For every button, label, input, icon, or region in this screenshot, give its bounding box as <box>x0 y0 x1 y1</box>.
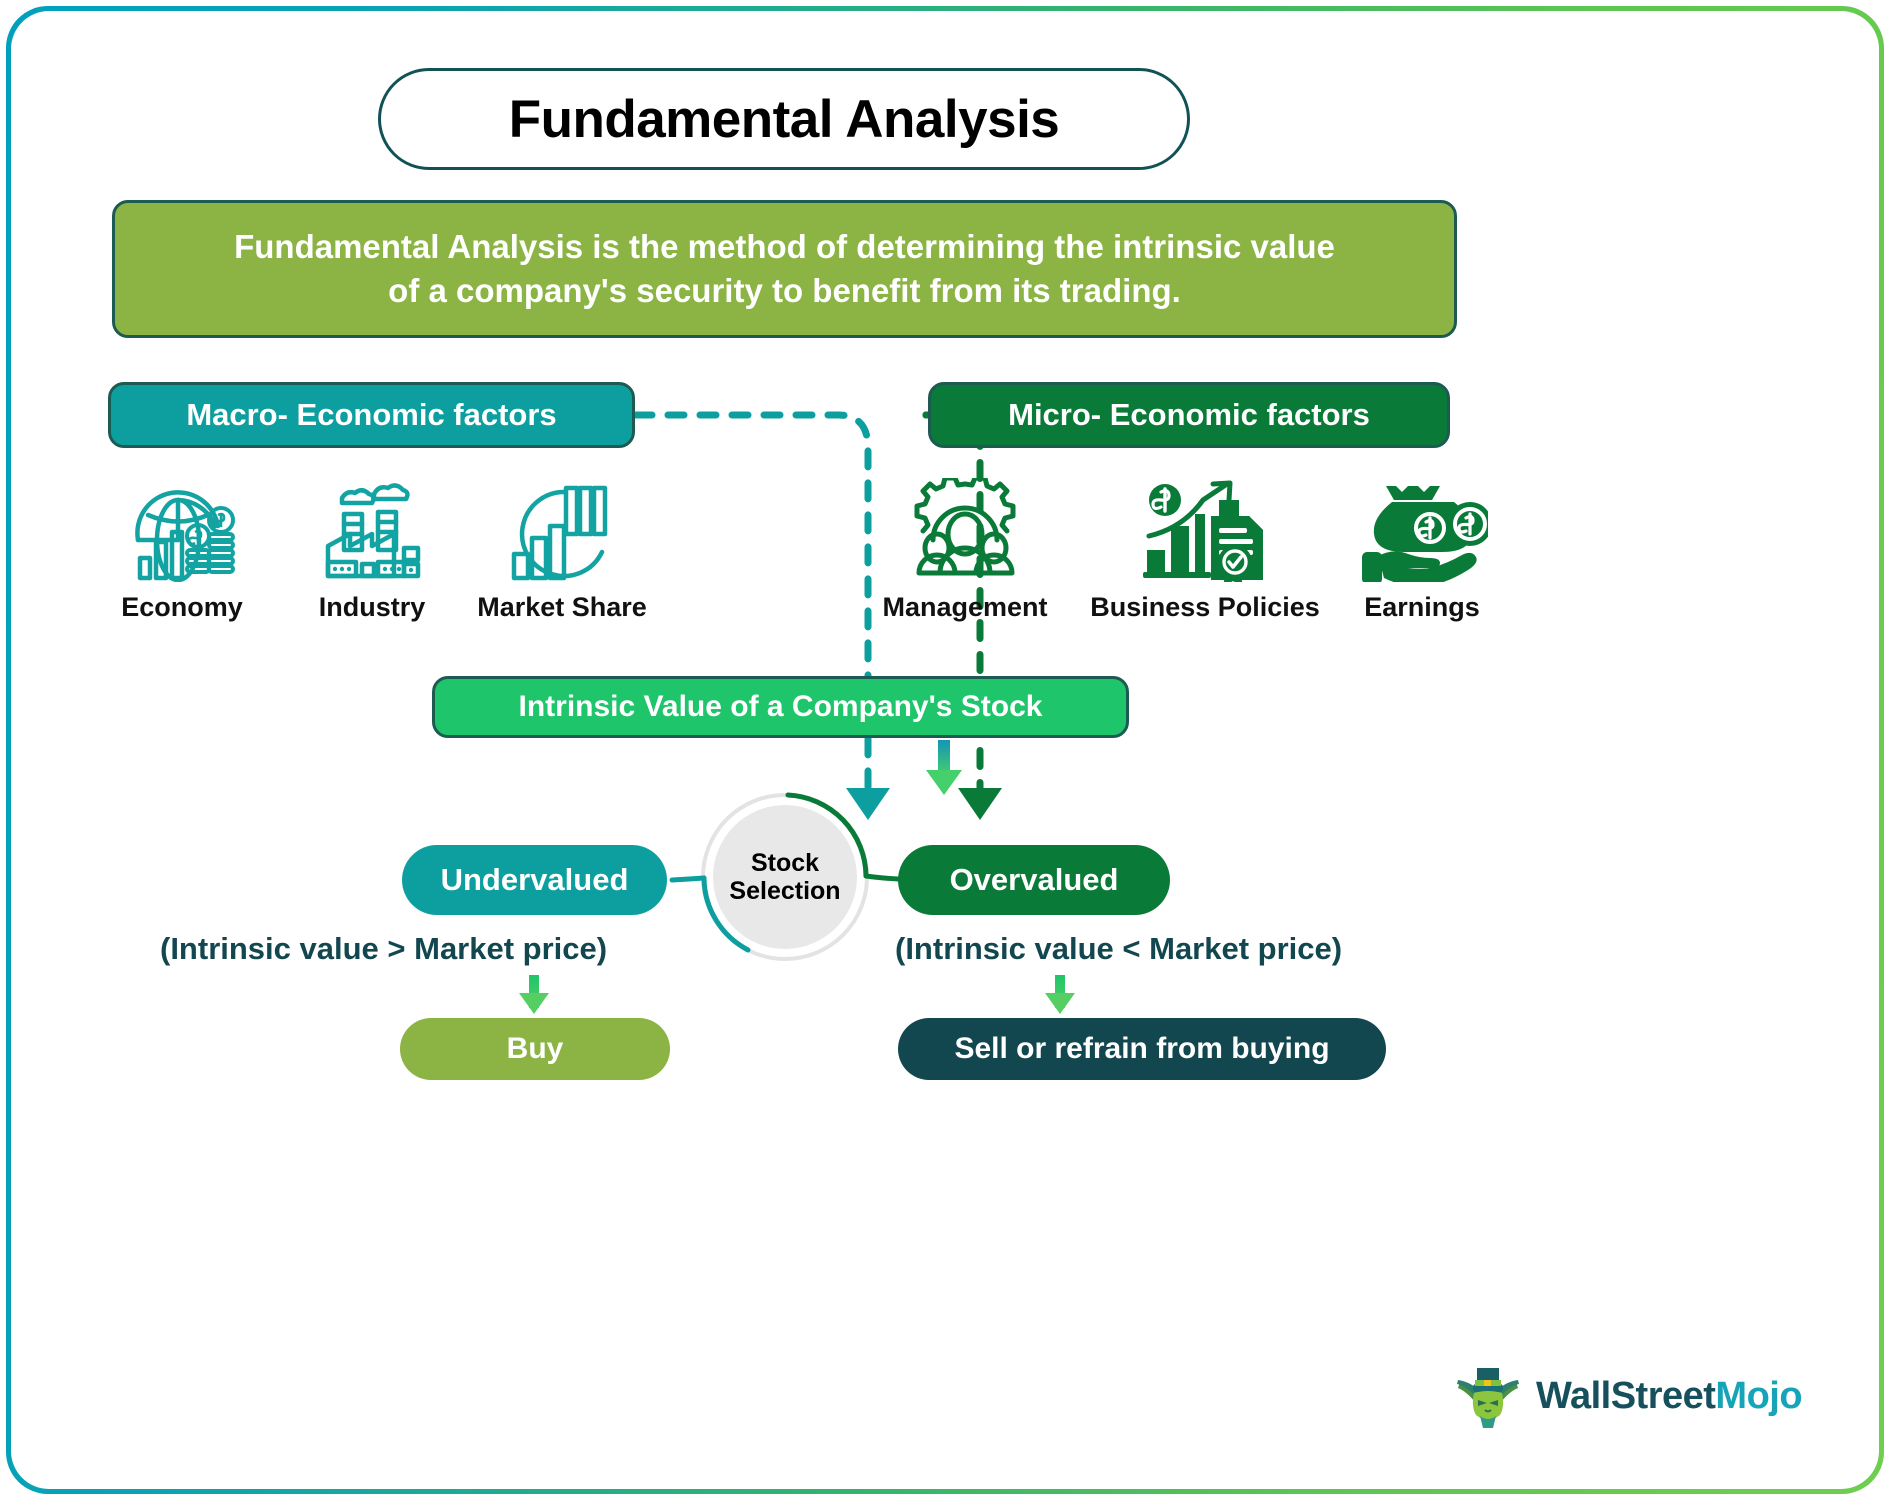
macro-item-economy[interactable]: Economy <box>92 470 272 623</box>
macro-economic-factors-label: Macro- Economic factors <box>186 397 556 433</box>
intrinsic-value-pill[interactable]: Intrinsic Value of a Company's Stock <box>432 676 1129 738</box>
macro-item-label: Market Share <box>477 592 647 623</box>
logo-wordmark: WallStreetMojo <box>1536 1375 1802 1418</box>
macro-item-market-share[interactable]: Market Share <box>472 470 652 623</box>
globe-bar-chart-coins-icon <box>126 470 238 582</box>
buy-action-label: Buy <box>507 1032 564 1066</box>
intrinsic-value-label: Intrinsic Value of a Company's Stock <box>519 690 1043 724</box>
micro-item-earnings[interactable]: Earnings <box>1332 470 1512 623</box>
growth-chart-document-icon <box>1141 470 1269 582</box>
description-banner: Fundamental Analysis is the method of de… <box>112 200 1457 338</box>
stock-selection-node[interactable]: Stock Selection <box>694 786 876 968</box>
micro-item-management[interactable]: Management <box>875 470 1055 623</box>
micro-economic-factors-label: Micro- Economic factors <box>1008 397 1370 433</box>
gear-people-icon <box>906 470 1024 582</box>
macro-item-label: Economy <box>121 592 243 623</box>
undervalued-condition: (Intrinsic value > Market price) <box>160 931 607 967</box>
overvalued-label: Overvalued <box>950 862 1119 898</box>
pie-bar-chart-icon <box>502 470 622 582</box>
wallstreetmojo-logo[interactable]: WallStreetMojo <box>1452 1360 1802 1432</box>
micro-item-label: Business Policies <box>1090 592 1320 623</box>
description-line-1: Fundamental Analysis is the method of de… <box>234 228 1335 265</box>
description-line-2: of a company's security to benefit from … <box>388 272 1181 309</box>
micro-economic-factors-pill[interactable]: Micro- Economic factors <box>928 382 1450 448</box>
hand-money-bag-coins-icon <box>1356 470 1488 582</box>
stock-selection-core: Stock Selection <box>713 805 857 949</box>
buy-action-pill[interactable]: Buy <box>400 1018 670 1080</box>
stock-selection-line-1: Stock <box>751 849 819 877</box>
overvalued-condition: (Intrinsic value < Market price) <box>895 931 1342 967</box>
description-text: Fundamental Analysis is the method of de… <box>234 225 1335 313</box>
logo-wordmark-part1: WallStreet <box>1536 1375 1715 1417</box>
page-title: Fundamental Analysis <box>509 89 1060 150</box>
logo-wordmark-part2: Mojo <box>1715 1375 1802 1417</box>
undervalued-label: Undervalued <box>441 862 629 898</box>
stock-selection-line-2: Selection <box>729 877 840 905</box>
overvalued-pill[interactable]: Overvalued <box>898 845 1170 915</box>
macro-item-industry[interactable]: Industry <box>282 470 462 623</box>
sell-action-pill[interactable]: Sell or refrain from buying <box>898 1018 1386 1080</box>
micro-item-label: Earnings <box>1364 592 1480 623</box>
factory-icon <box>316 470 428 582</box>
undervalued-pill[interactable]: Undervalued <box>402 845 667 915</box>
macro-item-label: Industry <box>319 592 426 623</box>
page-title-container: Fundamental Analysis <box>378 68 1190 170</box>
sell-action-label: Sell or refrain from buying <box>954 1032 1329 1066</box>
micro-item-business-policies[interactable]: Business Policies <box>1115 470 1295 623</box>
infographic-canvas: Fundamental Analysis Fundamental Analysi… <box>0 0 1890 1500</box>
micro-item-label: Management <box>882 592 1047 623</box>
bull-top-hat-icon <box>1452 1360 1524 1432</box>
macro-economic-factors-pill[interactable]: Macro- Economic factors <box>108 382 635 448</box>
